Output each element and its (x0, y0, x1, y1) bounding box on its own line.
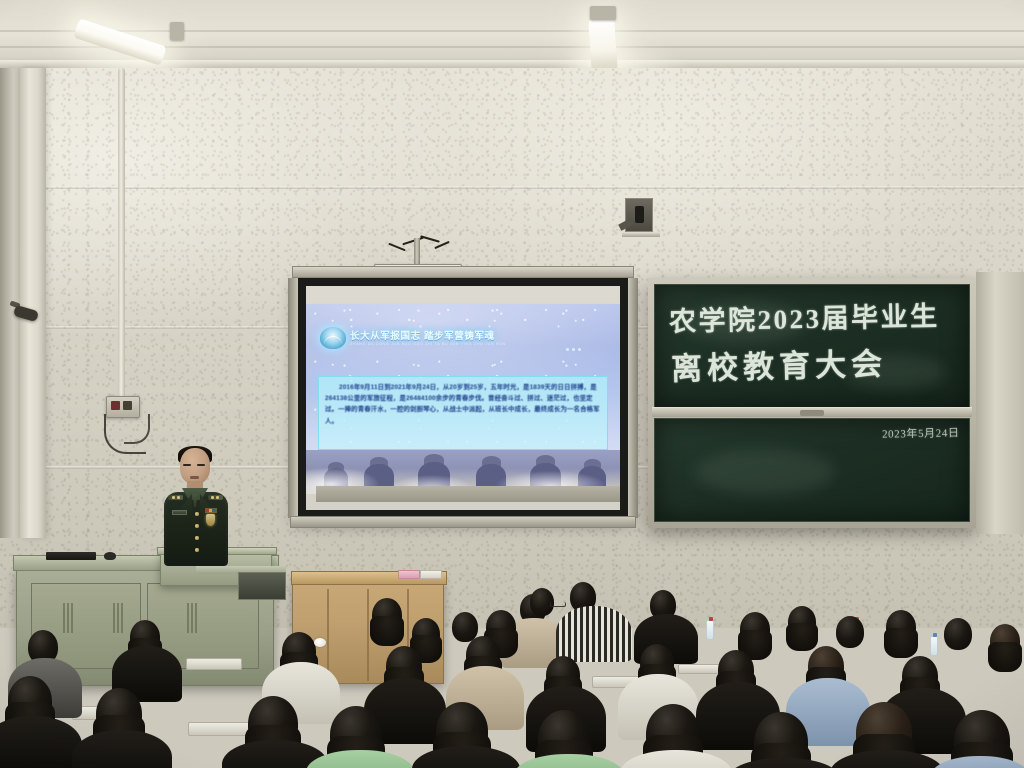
audience-shoulders (514, 754, 624, 768)
audience-shoulders (620, 750, 732, 768)
projection-screen: 长大从军报国志 踏步军营铸军魂 ZHANG DA CONG JUN BAO GU… (296, 278, 630, 518)
slide-title-dots (566, 338, 600, 343)
audience-shoulders (0, 716, 82, 768)
screen-lower-edge (316, 486, 620, 502)
ribbon-bar-icon (205, 508, 217, 513)
audience-head (944, 618, 972, 650)
presentation-slide: 长大从军报国志 踏步军营铸军魂 ZHANG DA CONG JUN BAO GU… (306, 304, 620, 494)
audience-head (836, 616, 864, 648)
slide-body-text: 2016年9月11日到2021年9月24日，从20岁到25岁，五年时光，是183… (325, 382, 601, 427)
presenter-name-tag (172, 510, 187, 515)
audience-shoulders (556, 606, 632, 662)
audience (0, 560, 1024, 768)
presenter-officer (158, 448, 234, 566)
blackboard-date: 2023年5月24日 (881, 424, 959, 441)
mouse[interactable] (104, 552, 116, 560)
blackboard-lower-panel: 2023年5月24日 (654, 418, 970, 522)
student-desk (186, 658, 242, 670)
blackboard: 农学院2023届毕业生 离校教育大会 2023年5月24日 (648, 278, 976, 528)
audience-head (740, 612, 770, 646)
blackboard-chalk-rail (652, 407, 972, 417)
blackboard-title-line-1: 农学院2023届毕业生 (669, 294, 940, 339)
screen-surface: 长大从军报国志 踏步军营铸军魂 ZHANG DA CONG JUN BAO GU… (306, 286, 620, 510)
student-desk (188, 722, 250, 736)
camera-icon (8, 300, 42, 326)
audience-head (990, 624, 1020, 658)
audience-shoulders (728, 758, 840, 768)
audience-head (412, 618, 440, 650)
wall-right-edge (976, 272, 1024, 534)
hair-accessory (314, 638, 326, 647)
blackboard-title-line-2: 离校教育大会 (670, 338, 887, 388)
audience-shoulders (412, 746, 520, 768)
emblem-icon (320, 327, 346, 349)
audience-head (886, 610, 916, 644)
audience-head (788, 606, 816, 638)
glasses-icon (550, 602, 566, 607)
audience-shoulders (72, 730, 172, 768)
medal-icon (206, 514, 215, 526)
slide-header: 长大从军报国志 踏步军营铸军魂 ZHANG DA CONG JUN BAO GU… (320, 326, 606, 356)
camera-icon (625, 198, 653, 232)
audience-head (372, 598, 402, 632)
slide-body-panel: 2016年9月11日到2021年9月24日，从20岁到25岁，五年时光，是183… (318, 376, 608, 450)
wall-conduit (118, 68, 125, 398)
lecture-hall-photo: 长大从军报国志 踏步军营铸军魂 ZHANG DA CONG JUN BAO GU… (0, 0, 1024, 768)
laptop[interactable] (46, 552, 96, 560)
blackboard-upper-panel: 农学院2023届毕业生 离校教育大会 (654, 284, 970, 408)
